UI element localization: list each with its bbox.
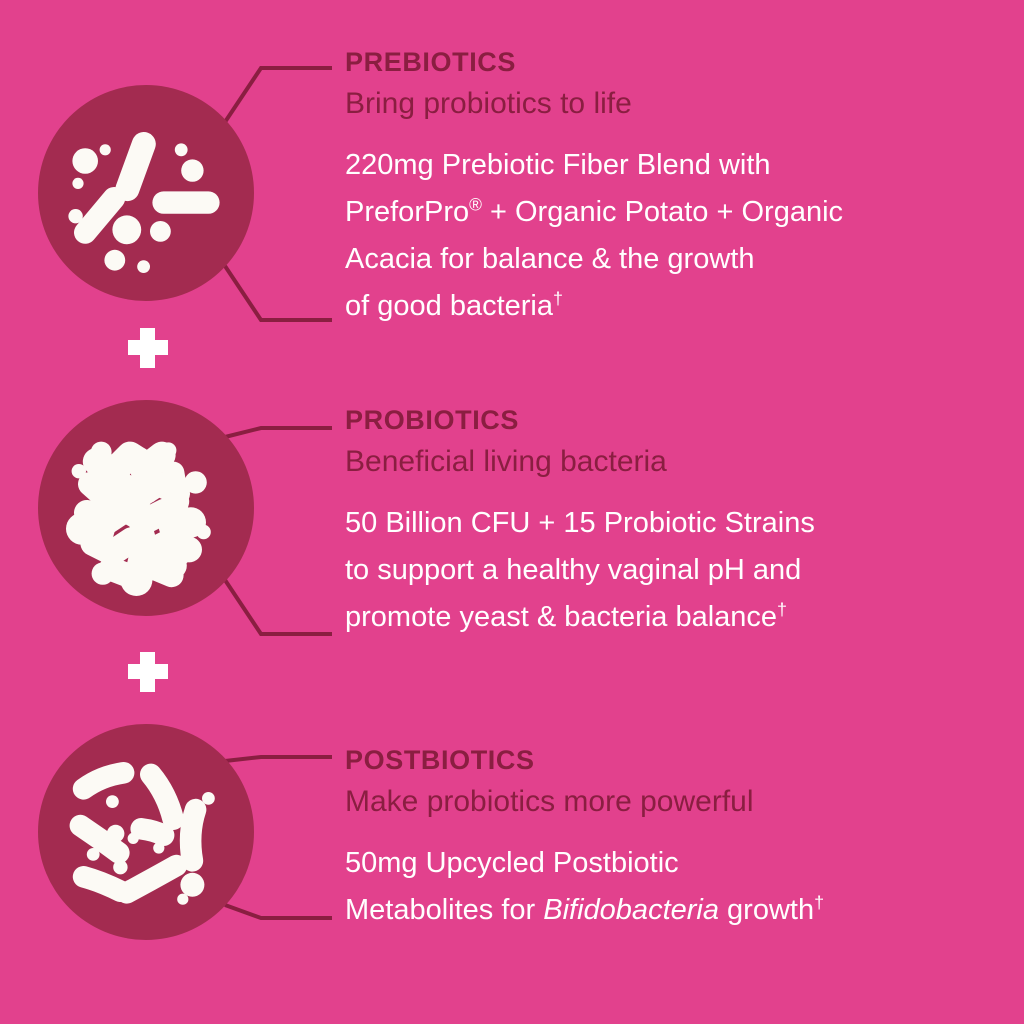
icon-circle-postbiotics xyxy=(38,724,254,940)
connector-postbiotics-top xyxy=(225,757,332,761)
plus-sign-1 xyxy=(128,328,168,368)
body-line: promote yeast & bacteria balance† xyxy=(345,594,1015,641)
connector-prebiotics-bottom xyxy=(225,266,332,320)
connector-postbiotics-bottom xyxy=(225,905,332,918)
icon-circle-prebiotics xyxy=(38,85,254,301)
body-line: Metabolites for Bifidobacteria growth† xyxy=(345,887,1015,934)
icon-circle-probiotics xyxy=(38,400,254,616)
italic-species-name: Bifidobacteria xyxy=(543,894,719,926)
connector-probiotics-top xyxy=(225,428,332,437)
section-prebiotics: PREBIOTICS Bring probiotics to life 220m… xyxy=(345,47,1015,330)
section-probiotics: PROBIOTICS Beneficial living bacteria 50… xyxy=(345,405,1015,641)
body-line: 50 Billion CFU + 15 Probiotic Strains xyxy=(345,500,1015,547)
connector-probiotics-bottom xyxy=(225,580,332,634)
plus-sign-2 xyxy=(128,652,168,692)
section-postbiotics: POSTBIOTICS Make probiotics more powerfu… xyxy=(345,745,1015,934)
infographic-root: PREBIOTICS Bring probiotics to life 220m… xyxy=(0,0,1024,1024)
body-line: 50mg Upcycled Postbiotic xyxy=(345,840,1015,887)
body-line: Acacia for balance & the growth xyxy=(345,236,1015,283)
section-title-postbiotics: POSTBIOTICS xyxy=(345,745,1015,776)
body-line: of good bacteria† xyxy=(345,283,1015,330)
section-title-probiotics: PROBIOTICS xyxy=(345,405,1015,436)
section-body-postbiotics: 50mg Upcycled Postbiotic Metabolites for… xyxy=(345,840,1015,934)
section-subtitle-prebiotics: Bring probiotics to life xyxy=(345,84,1015,123)
section-title-prebiotics: PREBIOTICS xyxy=(345,47,1015,78)
body-line: 220mg Prebiotic Fiber Blend with xyxy=(345,142,1015,189)
section-body-prebiotics: 220mg Prebiotic Fiber Blend with PreforP… xyxy=(345,142,1015,330)
section-body-probiotics: 50 Billion CFU + 15 Probiotic Strains to… xyxy=(345,500,1015,641)
body-line: to support a healthy vaginal pH and xyxy=(345,547,1015,594)
body-line: PreforPro® + Organic Potato + Organic xyxy=(345,189,1015,236)
section-subtitle-postbiotics: Make probiotics more powerful xyxy=(345,782,1015,821)
section-subtitle-probiotics: Beneficial living bacteria xyxy=(345,442,1015,481)
connector-prebiotics-top xyxy=(225,68,332,122)
